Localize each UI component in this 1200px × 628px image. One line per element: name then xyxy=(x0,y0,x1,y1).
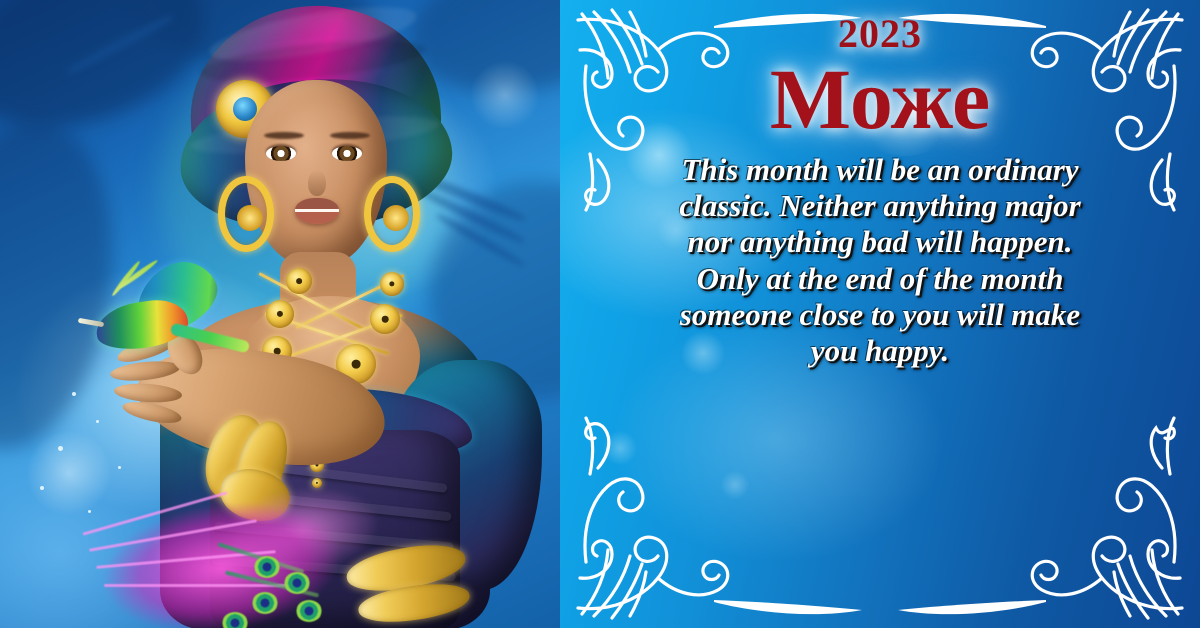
sparkle xyxy=(118,466,121,469)
eye xyxy=(266,146,296,161)
nose xyxy=(308,170,326,196)
eye xyxy=(332,146,362,161)
peacock-eye-spot xyxy=(252,592,278,614)
hummingbird-crest xyxy=(110,260,141,298)
necklace-medallion xyxy=(286,268,312,294)
peacock-eye-spot xyxy=(296,600,322,622)
lips xyxy=(295,198,339,224)
peacock-eye-spot xyxy=(284,572,310,594)
peacock-eye-spot xyxy=(254,556,280,578)
month-title: Може xyxy=(770,56,990,144)
feather-strand xyxy=(104,584,290,587)
hummingbird-beak xyxy=(78,318,104,327)
illustration-panel xyxy=(0,0,600,628)
sparkle xyxy=(96,420,99,423)
panel-text-column: 2023 Може This month will be an ordinary… xyxy=(560,0,1200,628)
horoscope-card: 2023 Може This month will be an ordinary… xyxy=(0,0,1200,628)
fortune-teller-figure xyxy=(40,0,560,628)
sparkle xyxy=(58,446,63,451)
peacock-eye-spot xyxy=(222,612,248,628)
sparkle xyxy=(72,392,76,396)
eyebrow xyxy=(330,132,370,139)
eyebrow xyxy=(264,132,304,139)
necklace-medallion xyxy=(380,272,404,296)
necklace-medallion xyxy=(370,304,400,334)
sparkle xyxy=(40,486,44,490)
year-label: 2023 xyxy=(838,14,922,54)
necklace-medallion xyxy=(266,300,294,328)
sparkle xyxy=(88,510,91,513)
horoscope-body-text: This month will be an ordinary classic. … xyxy=(665,152,1095,370)
text-panel: 2023 Може This month will be an ordinary… xyxy=(560,0,1200,628)
hoop-earring-icon xyxy=(364,176,420,252)
hoop-earring-icon xyxy=(218,176,274,252)
